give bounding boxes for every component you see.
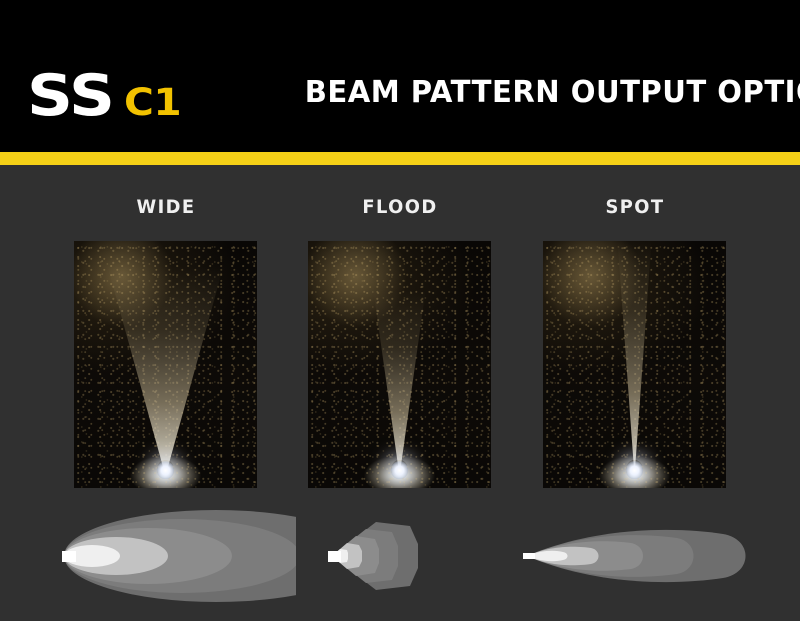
beam-photo-spot — [543, 241, 726, 488]
beam-label-flood: FLOOD — [278, 196, 522, 218]
pattern-lobes — [523, 530, 746, 582]
brand-primary-text: SS — [27, 68, 114, 125]
beam-columns: WIDE — [0, 165, 800, 621]
page-title: BEAM PATTERN OUTPUT OPTIONS — [305, 76, 780, 110]
emitter — [328, 551, 341, 562]
accent-divider — [0, 152, 800, 165]
photo-beam-wide — [74, 241, 257, 484]
pattern-lobes — [328, 522, 418, 590]
beam-column-flood: FLOOD — [270, 165, 530, 621]
beam-column-wide: WIDE — [36, 165, 296, 621]
emitter — [62, 551, 76, 562]
pattern-lobes — [62, 510, 296, 602]
header-bar: SS C1 BEAM PATTERN OUTPUT OPTIONS — [0, 0, 800, 152]
beam-pattern-wide-svg — [36, 508, 296, 608]
beam-pattern-spot-svg — [505, 508, 765, 608]
emitter — [523, 553, 535, 559]
beam-pattern-wide — [36, 508, 296, 608]
beam-pattern-flood — [270, 508, 530, 608]
beam-pattern-infographic: SS C1 BEAM PATTERN OUTPUT OPTIONS WIDE — [0, 0, 800, 621]
photo-beam-flood — [308, 241, 491, 484]
beam-photo-wide — [74, 241, 257, 488]
beam-column-spot: SPOT — [505, 165, 765, 621]
photo-beam-spot — [543, 241, 726, 484]
beam-label-spot: SPOT — [513, 196, 757, 218]
beam-pattern-spot — [505, 508, 765, 608]
brand-logo: SS C1 — [27, 68, 175, 130]
beam-pattern-flood-svg — [270, 508, 530, 608]
beam-photo-flood — [308, 241, 491, 488]
beam-label-wide: WIDE — [44, 196, 288, 218]
brand-secondary-text: C1 — [124, 84, 181, 121]
